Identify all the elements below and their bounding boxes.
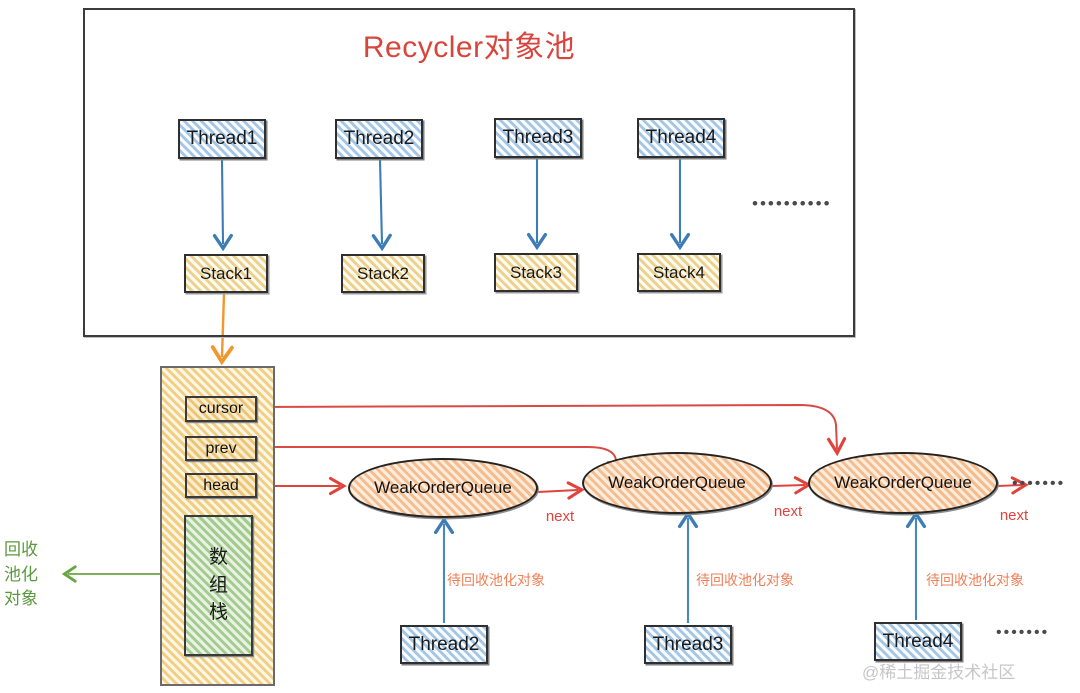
producer-thread-box-3-label: Thread3: [653, 634, 724, 656]
stack-box-2-label: Stack2: [357, 264, 409, 284]
thread-box-4[interactable]: Thread4: [637, 118, 725, 158]
thread-box-1-label: Thread1: [187, 128, 258, 150]
recycle-label-line-3: 对象: [4, 587, 38, 612]
next-label-1: next: [538, 505, 582, 527]
weak-order-queue-2-label: WeakOrderQueue: [608, 473, 746, 493]
next-label-3: next: [992, 504, 1036, 526]
field-cursor-label: cursor: [199, 400, 243, 418]
stack-box-3-label: Stack3: [510, 263, 562, 283]
thread-box-1[interactable]: Thread1: [178, 119, 266, 159]
weak-order-queue-2[interactable]: WeakOrderQueue: [582, 452, 772, 514]
pending-recycle-note-2: 待回收池化对象: [696, 570, 826, 590]
field-prev[interactable]: prev: [185, 436, 257, 461]
recycle-pooled-object-label: 回收 池化 对象: [4, 528, 64, 622]
recycle-label-line-2: 池化: [4, 563, 38, 588]
array-stack-char-1: 数: [209, 544, 228, 572]
stack-box-4[interactable]: Stack4: [637, 253, 721, 292]
page-title: Recycler对象池: [83, 22, 855, 66]
thread-box-3[interactable]: Thread3: [494, 118, 582, 158]
thread-box-2-label: Thread2: [344, 128, 415, 150]
weak-order-queue-3[interactable]: WeakOrderQueue: [808, 452, 998, 514]
field-head-label: head: [203, 477, 239, 495]
producer-thread-box-2[interactable]: Thread2: [400, 625, 488, 664]
stack-box-4-label: Stack4: [653, 263, 705, 283]
thread-box-4-label: Thread4: [646, 127, 717, 149]
stack-box-2[interactable]: Stack2: [341, 254, 425, 293]
stack-box-1-label: Stack1: [200, 264, 252, 284]
stack-box-1[interactable]: Stack1: [184, 254, 268, 293]
next-label-2: next: [766, 500, 810, 522]
field-head[interactable]: head: [185, 473, 257, 498]
field-prev-label: prev: [205, 440, 236, 458]
producer-thread-box-4-label: Thread4: [883, 631, 954, 653]
weak-order-queue-3-label: WeakOrderQueue: [834, 473, 972, 493]
diagram-canvas: Recycler对象池 Thread1 Thread2 Thread3 Thre…: [0, 0, 1080, 693]
thread-box-3-label: Thread3: [503, 127, 574, 149]
producer-thread-box-2-label: Thread2: [409, 634, 480, 656]
threads-ellipsis: ••••••••••: [752, 192, 822, 216]
producer-threads-ellipsis: •••••••: [996, 622, 1058, 644]
array-stack-char-2: 组: [209, 572, 228, 600]
pending-recycle-note-1: 待回收池化对象: [447, 570, 577, 590]
recycle-label-line-1: 回收: [4, 538, 38, 563]
producer-thread-box-3[interactable]: Thread3: [644, 625, 732, 664]
array-stack-char-3: 栈: [209, 599, 228, 627]
pending-recycle-note-3: 待回收池化对象: [926, 570, 1056, 590]
watermark: @稀土掘金技术社区: [862, 656, 1072, 684]
queue-chain-ellipsis: •••••••: [1012, 473, 1074, 495]
field-cursor[interactable]: cursor: [185, 396, 257, 422]
weak-order-queue-1-label: WeakOrderQueue: [374, 478, 512, 498]
thread-box-2[interactable]: Thread2: [335, 119, 423, 159]
stack-box-3[interactable]: Stack3: [494, 253, 578, 292]
array-stack-box[interactable]: 数 组 栈: [184, 515, 253, 656]
weak-order-queue-1[interactable]: WeakOrderQueue: [348, 458, 538, 518]
